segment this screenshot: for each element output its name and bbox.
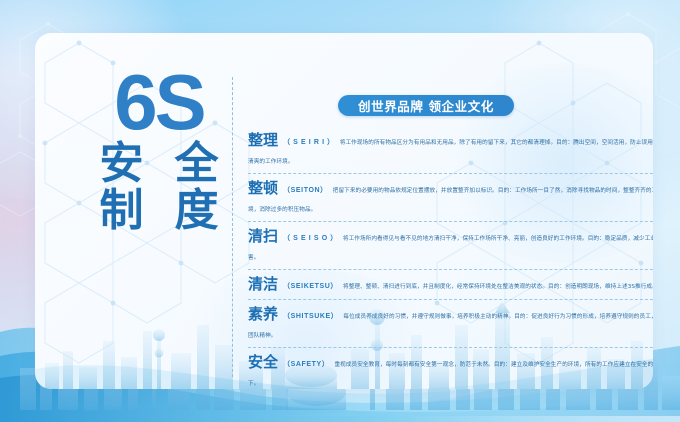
vertical-dashed-divider (232, 77, 233, 377)
title-char-4: 度 (159, 189, 234, 234)
list-item[interactable]: 清扫（ S E I S O ）将工作场所内看得见与看不见的地方清扫干净，保持工作… (248, 221, 653, 269)
principles-list: 整理（ S E I R I ）将工作现场的所有物品区分为有用品和无用品，除了有用… (248, 126, 653, 389)
principle-name: 安全 (248, 353, 278, 371)
page-title-chinese: 安 全 制 度 (84, 142, 234, 234)
page-title-6s: 6S (114, 69, 203, 136)
list-item[interactable]: 素养（SHITSUKE）每位成员养成良好的习惯，并遵守规则做事，培养积极主动的精… (248, 299, 653, 347)
title-char-3: 制 (84, 189, 159, 234)
list-item[interactable]: 整顿（SEITON）把留下来的必要用的物品依规定位置摆放，并放置整齐加以标识。目… (248, 173, 653, 221)
principle-name: 整理 (248, 131, 278, 149)
principle-romaji: （ S E I R I ） (283, 139, 335, 146)
header-banner-pill: 创世界品牌 领企业文化 (338, 95, 514, 116)
principle-romaji: （SEIKETSU） (283, 283, 338, 290)
poster-canvas: 6S 安 全 制 度 创世界品牌 领企业文化 整理（ S E I R I ）将工… (0, 0, 680, 422)
list-item[interactable]: 安全（SAFETY）重视成员安全教育，每时每刻都有安全第一观念，防范于未然。目的… (248, 347, 653, 389)
title-block: 6S 安 全 制 度 (83, 69, 235, 341)
principle-romaji: （SEITON） (283, 187, 328, 194)
principle-romaji: （SAFETY） (283, 361, 329, 368)
title-char-1: 安 (84, 142, 159, 187)
principle-romaji: （SHITSUKE） (283, 313, 338, 320)
principle-name: 素养 (248, 305, 278, 323)
title-char-2: 全 (159, 142, 234, 187)
content-card: 6S 安 全 制 度 创世界品牌 领企业文化 整理（ S E I R I ）将工… (35, 33, 653, 389)
principle-romaji: （ S E I S O ） (283, 235, 338, 242)
list-item[interactable]: 清洁（SEIKETSU）将整理、整顿、清扫进行到底，并且制度化，经常保持环境处在… (248, 269, 653, 299)
principle-name: 整顿 (248, 179, 278, 197)
principle-name: 清扫 (248, 227, 278, 245)
principle-description: 将整理、整顿、清扫进行到底，并且制度化，经常保持环境处在整洁美观的状态。目的：创… (343, 284, 653, 290)
list-item[interactable]: 整理（ S E I R I ）将工作现场的所有物品区分为有用品和无用品，除了有用… (248, 126, 653, 173)
principle-name: 清洁 (248, 275, 278, 293)
